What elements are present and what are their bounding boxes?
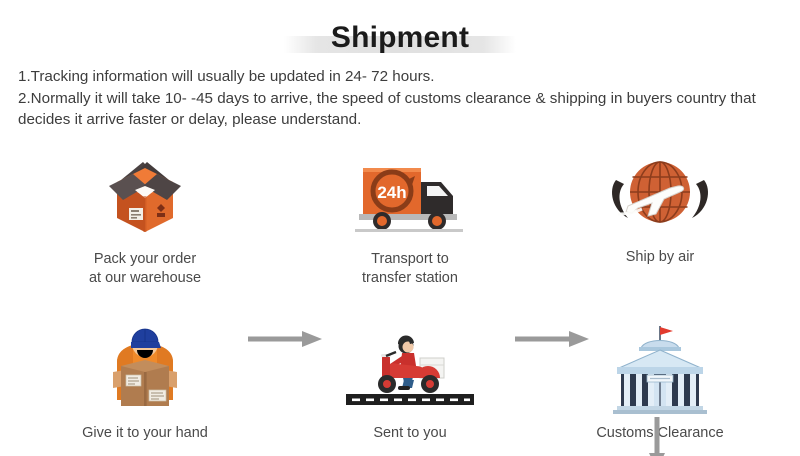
arrow-right-pack-to-transport xyxy=(248,328,324,350)
intro-paragraph: 1.Tracking information will usually be u… xyxy=(18,66,784,131)
caption-line-1: Sent to you xyxy=(290,424,530,443)
step-hand-caption: Give it to your hand xyxy=(25,424,265,443)
shipment-infographic: Shipment 1.Tracking information will usu… xyxy=(0,0,800,456)
caption-line-2: transfer station xyxy=(290,269,530,288)
courier-holding-box-icon xyxy=(25,320,265,416)
caption-line-1: Ship by air xyxy=(540,248,780,267)
caption-line-1: Transport to xyxy=(290,250,530,269)
step-ship-by-air: Ship by air xyxy=(540,144,780,267)
scooter-courier-icon xyxy=(290,320,530,416)
svg-text:24h: 24h xyxy=(377,183,406,202)
step-transport-caption: Transport to transfer station xyxy=(290,250,530,288)
caption-line-1: Give it to your hand xyxy=(25,424,265,443)
step-air-caption: Ship by air xyxy=(540,248,780,267)
step-sent-to-you: Sent to you xyxy=(290,320,530,443)
caption-line-2: at our warehouse xyxy=(25,269,265,288)
intro-line-1: 1.Tracking information will usually be u… xyxy=(18,66,784,88)
delivery-truck-24h-icon: 24h xyxy=(290,146,530,242)
step-transport-to-transfer-station: 24h Transport to t xyxy=(290,146,530,288)
intro-line-2: 2.Normally it will take 10- -45 days to … xyxy=(18,88,784,110)
page-title-area: Shipment xyxy=(0,16,800,60)
globe-airplane-icon xyxy=(540,144,780,240)
step-give-it-to-your-hand: Give it to your hand xyxy=(25,320,265,443)
open-cardboard-box-icon xyxy=(25,146,265,242)
intro-line-3: decides it arrive faster or delay, pleas… xyxy=(18,109,784,131)
step-sent-caption: Sent to you xyxy=(290,424,530,443)
steps-grid: Pack your order at our warehouse 24h xyxy=(0,140,800,456)
step-pack-caption: Pack your order at our warehouse xyxy=(25,250,265,288)
page-title: Shipment xyxy=(331,23,469,53)
arrow-down-air-to-customs xyxy=(646,417,668,456)
caption-line-1: Pack your order xyxy=(25,250,265,269)
arrow-right-transport-to-air xyxy=(515,328,591,350)
step-pack-your-order: Pack your order at our warehouse xyxy=(25,146,265,288)
